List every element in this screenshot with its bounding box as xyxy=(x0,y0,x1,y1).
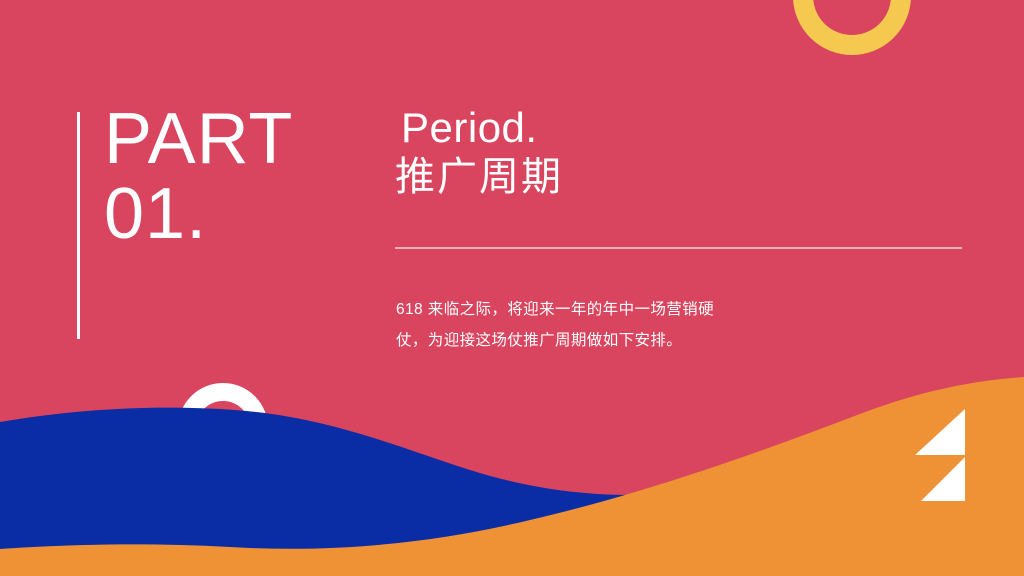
part-label: PART xyxy=(104,104,293,175)
decoration-triangles-layer xyxy=(0,0,1024,576)
page-title-english: Period. xyxy=(395,104,563,151)
white-triangle-lower-icon xyxy=(921,457,965,501)
title-divider xyxy=(395,247,962,249)
page-title-chinese: 推广周期 xyxy=(395,151,563,203)
part-number: 01. xyxy=(104,179,293,250)
section-accent-rule xyxy=(77,112,80,339)
slide-canvas: PART 01. Period. 推广周期 618 来临之际，将迎来一年的年中一… xyxy=(0,0,1024,576)
page-title: Period. 推广周期 xyxy=(395,104,563,203)
body-paragraph: 618 来临之际，将迎来一年的年中一场营销硬仗，为迎接这场仗推广周期做如下安排。 xyxy=(396,294,744,356)
section-number-block: PART 01. xyxy=(104,104,293,249)
white-triangle-upper-icon xyxy=(915,409,965,455)
